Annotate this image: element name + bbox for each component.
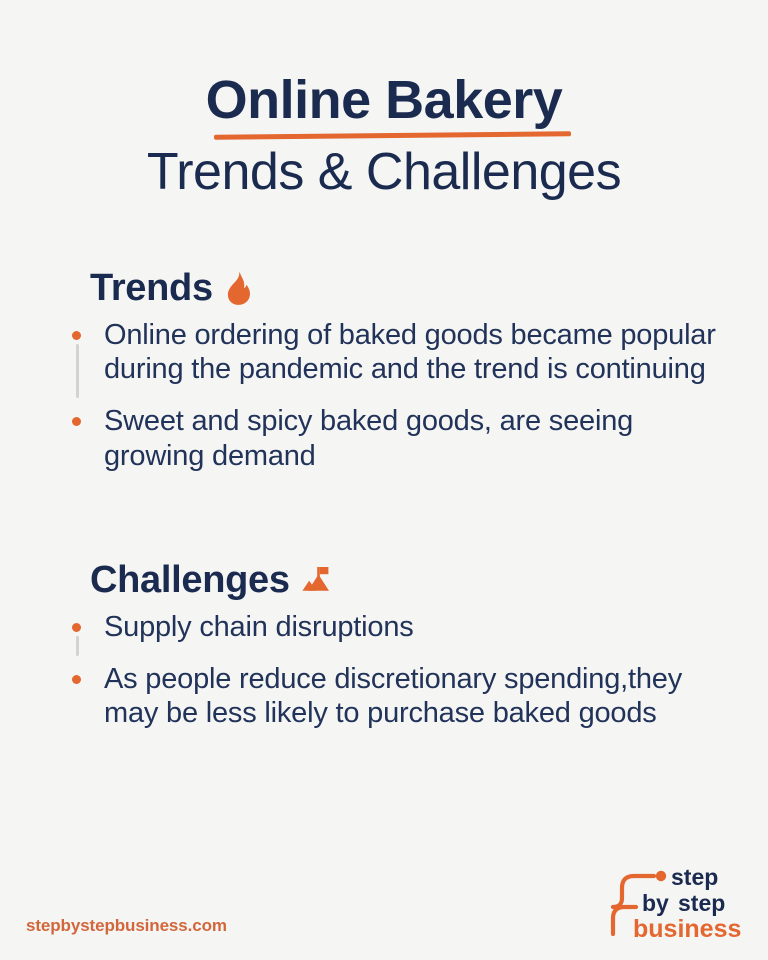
bullet-text: Supply chain disruptions bbox=[104, 611, 414, 643]
bullet-dot-icon bbox=[72, 331, 81, 340]
list-item: As people reduce discretionary spending,… bbox=[66, 662, 728, 730]
svg-text:step: step bbox=[671, 864, 718, 890]
svg-text:by: by bbox=[642, 890, 669, 916]
page-subtitle: Trends & Challenges bbox=[0, 143, 768, 201]
bullet-connector-line bbox=[76, 344, 79, 398]
brand-logo[interactable]: step by step business bbox=[610, 864, 750, 942]
section-challenges: Challenges Supply chain disruptions As p… bbox=[66, 559, 728, 731]
bullet-text: As people reduce discretionary spending,… bbox=[104, 663, 682, 729]
title-underline-accent bbox=[214, 131, 571, 139]
content-area: Trends Online ordering of baked goods be… bbox=[0, 267, 768, 731]
section-heading-challenges: Challenges bbox=[90, 559, 728, 602]
bullet-list-challenges: Supply chain disruptions As people reduc… bbox=[66, 610, 728, 731]
section-title-trends: Trends bbox=[90, 267, 213, 310]
bullet-text: Sweet and spicy baked goods, are seeing … bbox=[104, 405, 633, 471]
section-title-challenges: Challenges bbox=[90, 559, 290, 602]
list-item: Sweet and spicy baked goods, are seeing … bbox=[66, 404, 728, 472]
page-title: Online Bakery bbox=[206, 72, 563, 129]
section-trends: Trends Online ordering of baked goods be… bbox=[66, 267, 728, 473]
list-item: Online ordering of baked goods became po… bbox=[66, 318, 728, 386]
bullet-dot-icon bbox=[72, 417, 81, 426]
bullet-list-trends: Online ordering of baked goods became po… bbox=[66, 318, 728, 473]
list-item: Supply chain disruptions bbox=[66, 610, 728, 644]
svg-text:business: business bbox=[633, 915, 741, 942]
flame-icon bbox=[223, 271, 253, 305]
website-url[interactable]: stepbystepbusiness.com bbox=[26, 916, 227, 936]
section-heading-trends: Trends bbox=[90, 267, 728, 310]
bullet-dot-icon bbox=[72, 623, 81, 632]
title-main-wrapper: Online Bakery bbox=[206, 72, 563, 129]
bullet-connector-line bbox=[76, 636, 79, 656]
svg-text:step: step bbox=[678, 890, 725, 916]
page-title-block: Online Bakery Trends & Challenges bbox=[0, 0, 768, 201]
bullet-text: Online ordering of baked goods became po… bbox=[104, 319, 716, 385]
mountain-flag-icon bbox=[300, 564, 332, 596]
bullet-dot-icon bbox=[72, 675, 81, 684]
footer: stepbystepbusiness.com step by step busi… bbox=[0, 840, 768, 960]
